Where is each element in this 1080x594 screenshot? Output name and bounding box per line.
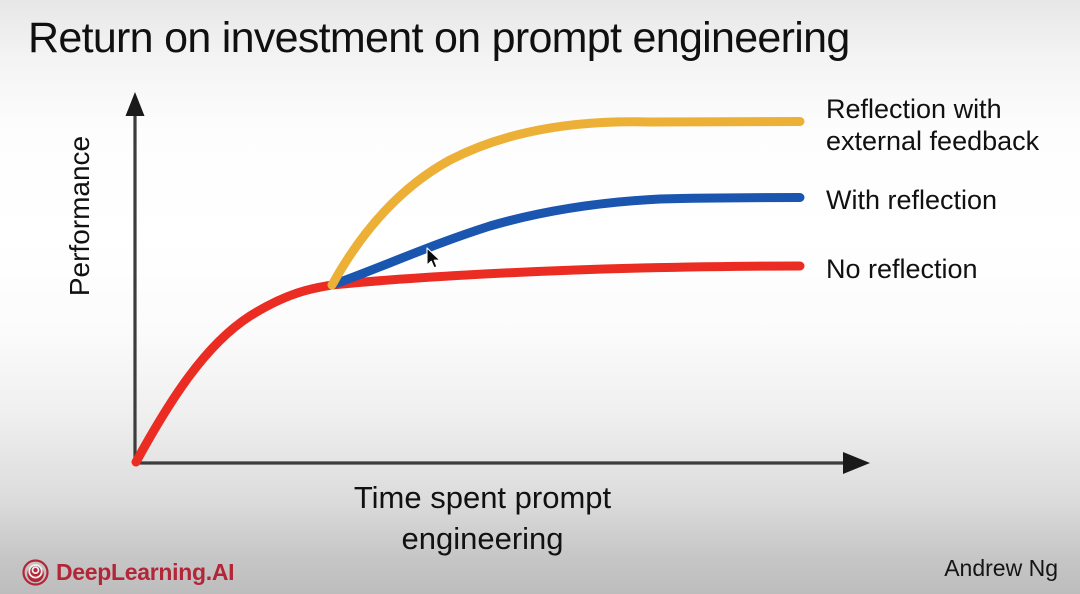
slide-canvas: Return on investment on prompt engineeri…: [0, 0, 1080, 594]
curve-no-reflection: [136, 266, 800, 462]
curve-reflection-external-feedback: [332, 122, 800, 286]
x-axis-label-line1: Time spent prompt: [275, 478, 690, 519]
x-axis-label: Time spent prompt engineering: [275, 478, 690, 560]
x-axis-label-line2: engineering: [275, 519, 690, 560]
deeplearning-ai-logo: DeepLearning.AI: [22, 559, 234, 586]
legend-label-line1: Reflection with: [826, 94, 1039, 126]
mouse-pointer-icon: [426, 247, 444, 271]
x-axis-arrowhead: [843, 452, 870, 474]
author-name: Andrew Ng: [944, 555, 1058, 582]
curve-with-reflection: [332, 198, 800, 286]
spiral-logo-icon: [22, 559, 49, 586]
y-axis-arrowhead: [126, 92, 145, 116]
y-axis-label: Performance: [64, 106, 96, 326]
brand-name: DeepLearning.AI: [56, 559, 234, 586]
legend-label-with-reflection: With reflection: [826, 185, 997, 217]
page-title: Return on investment on prompt engineeri…: [28, 14, 850, 63]
legend-label-no-reflection: No reflection: [826, 254, 978, 286]
legend-label-reflection-external-feedback: Reflection with external feedback: [826, 94, 1039, 157]
legend-label-line2: external feedback: [826, 126, 1039, 158]
